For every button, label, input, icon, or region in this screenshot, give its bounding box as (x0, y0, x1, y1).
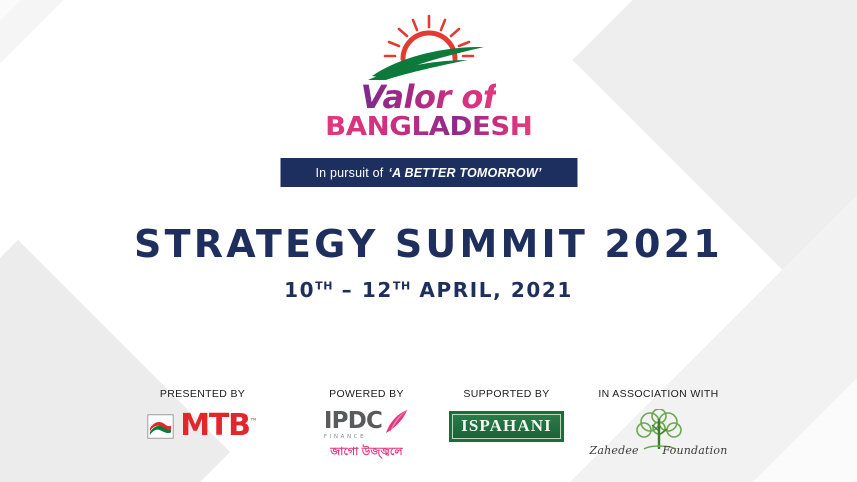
tagline-lead-text: In pursuit of (315, 166, 383, 180)
sun-over-hills-icon (368, 14, 490, 80)
sponsor-block-powered-by: POWERED BY IPDC FINANCE জাগো উজ্জ্বলে (293, 388, 441, 462)
sponsor-label-presented-by: PRESENTED BY (113, 388, 293, 400)
ispahani-logo: ISPAHANI (441, 411, 573, 457)
ipdc-swoosh-icon (383, 409, 409, 435)
sponsor-block-presented-by: PRESENTED BY MTB™ (113, 388, 293, 457)
date-separator: – (342, 278, 354, 302)
mtb-wordmark: MTB™ (180, 411, 258, 441)
logo-wordmark-bangladesh: BANGLADESH (325, 114, 532, 140)
sponsor-label-powered-by: POWERED BY (293, 388, 441, 400)
mtb-brand-text: MTB (180, 408, 250, 443)
ispahani-wordmark: ISPAHANI (461, 417, 552, 436)
page-title: STRATEGY SUMMIT 2021 (0, 222, 857, 266)
tagline-emphasis-text: ‘A BETTER TOMORROW’ (388, 166, 541, 180)
tagline-banner: In pursuit of ‘A BETTER TOMORROW’ (280, 158, 577, 187)
zahedee-name-first: Zahedee (590, 444, 639, 457)
zahedee-foundation-logo: Zahedee Foundation (573, 411, 745, 459)
sponsor-block-supported-by: SUPPORTED BY ISPAHANI (441, 388, 573, 457)
event-date: 10TH – 12TH APRIL, 2021 (0, 278, 857, 302)
date-ordinal-start: TH (315, 279, 333, 292)
ipdc-wordmark: IPDC (324, 411, 382, 432)
sponsor-label-in-association-with: IN ASSOCIATION WITH (573, 388, 745, 400)
ipdc-finance-logo: IPDC FINANCE জাগো উজ্জ্বলে (293, 411, 441, 462)
date-month-year: APRIL, 2021 (419, 278, 573, 302)
logo-wordmark-valor: Valor of (361, 81, 497, 113)
date-ordinal-end: TH (393, 279, 411, 292)
sponsor-label-supported-by: SUPPORTED BY (441, 388, 573, 400)
ipdc-subtitle: FINANCE (324, 434, 382, 440)
date-day-end: 12 (362, 278, 393, 302)
slide-content: Valor of BANGLADESH In pursuit of ‘A BET… (0, 0, 857, 482)
mtb-logo: MTB™ (113, 411, 293, 457)
ipdc-bangla-tagline: জাগো উজ্জ্বলে (330, 443, 402, 462)
mtb-trademark: ™ (250, 417, 258, 426)
zahedee-name-second: Foundation (662, 444, 727, 457)
mtb-wave-square-icon (147, 414, 174, 439)
sponsor-row: PRESENTED BY MTB™ POWERED BY (0, 388, 857, 462)
date-day-start: 10 (284, 278, 315, 302)
sponsor-block-in-association-with: IN ASSOCIATION WITH (573, 388, 745, 459)
event-logo: Valor of BANGLADESH (0, 14, 857, 140)
